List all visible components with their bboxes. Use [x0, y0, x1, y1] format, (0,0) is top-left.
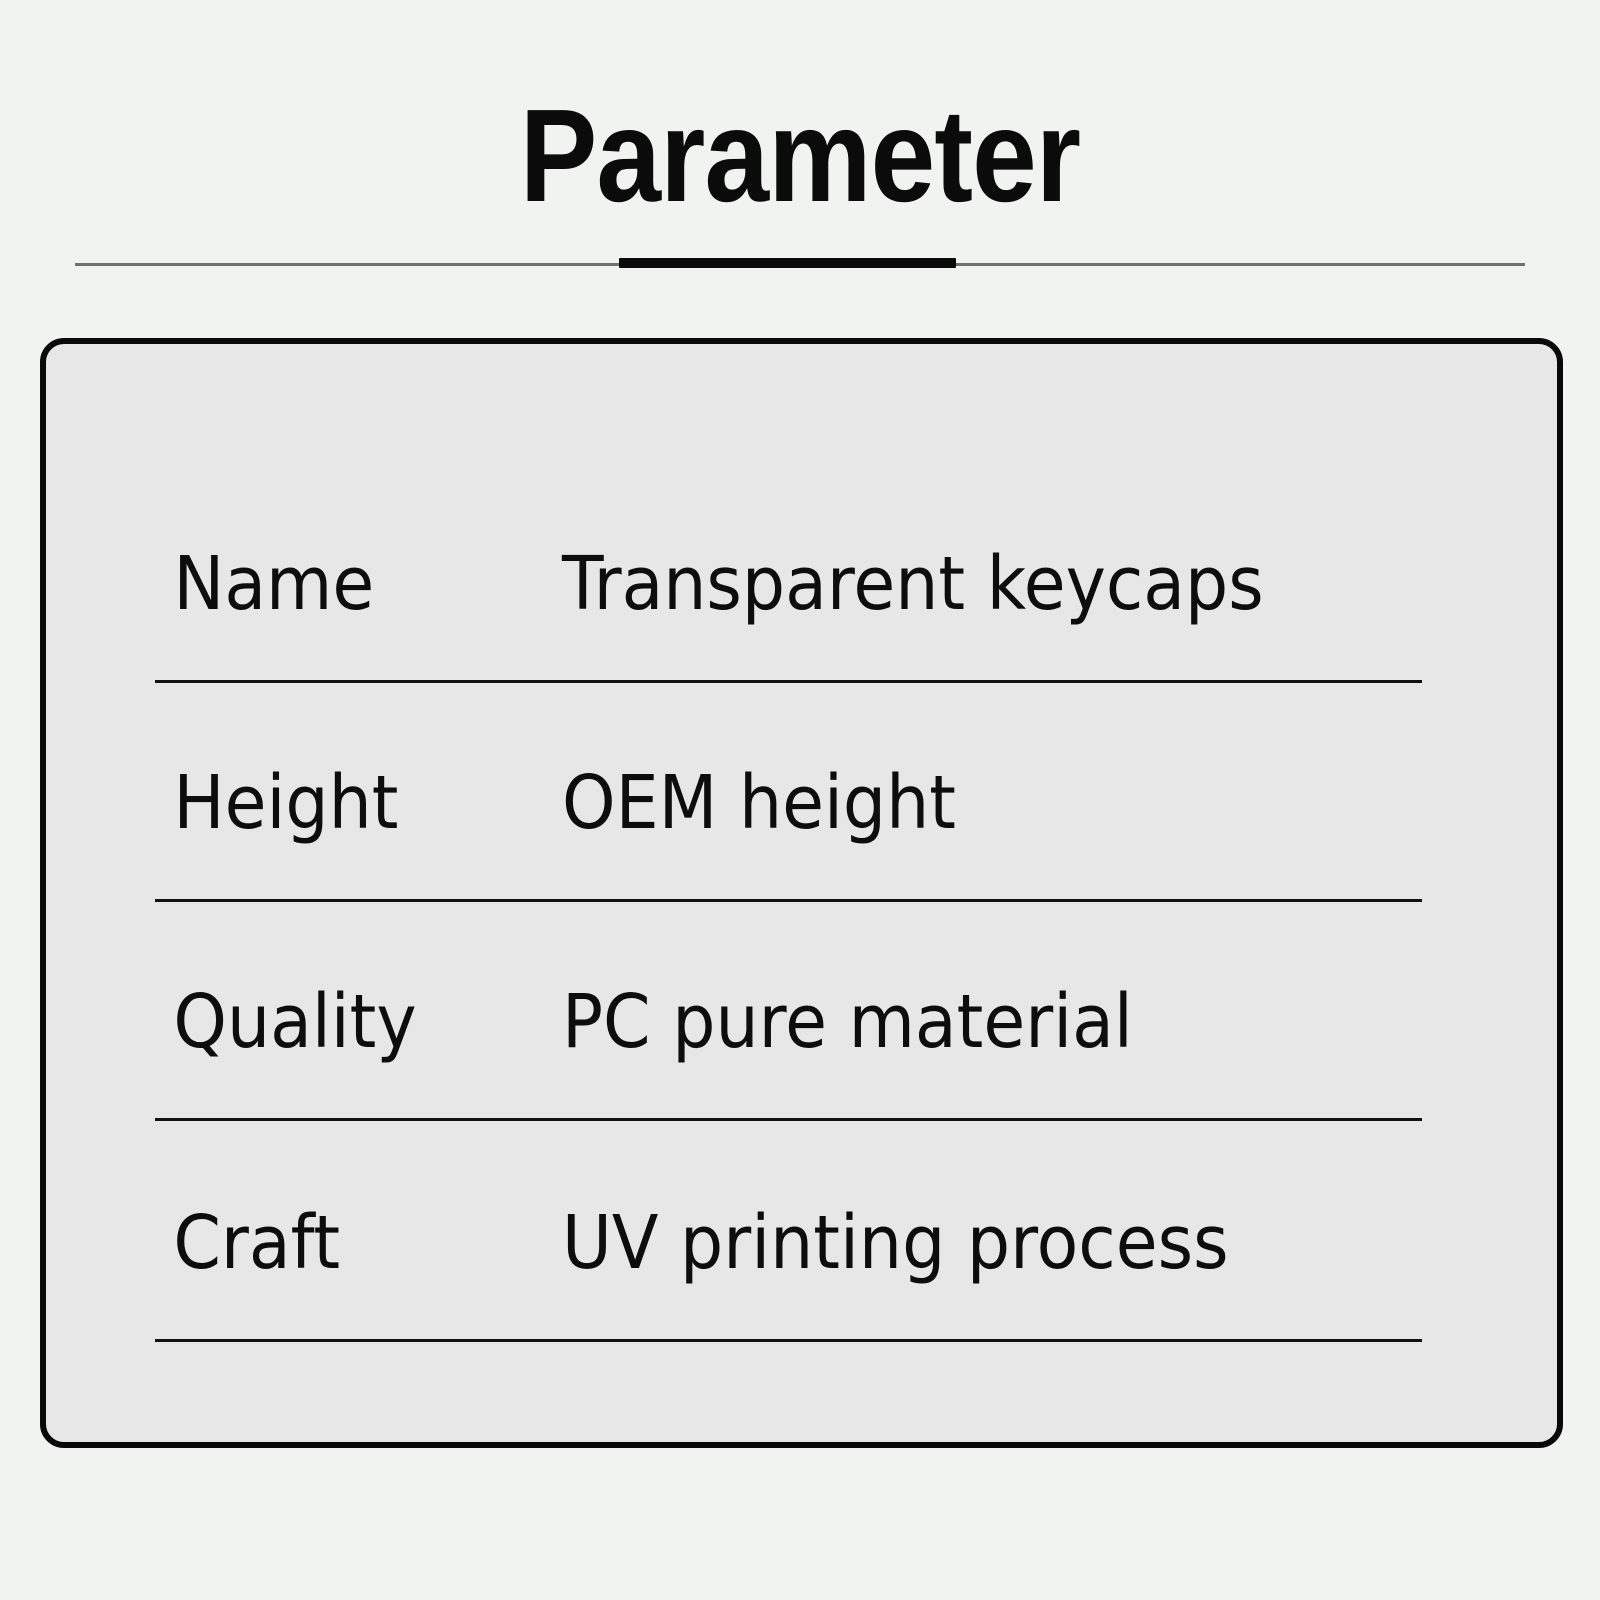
page-header: Parameter	[0, 0, 1600, 300]
row-divider	[155, 1339, 1422, 1342]
parameter-label-name-text: Name	[173, 543, 529, 683]
page-title: Parameter	[96, 86, 1504, 226]
table-row: Name Transparent keycaps	[155, 464, 1422, 683]
parameter-card: Name Transparent keycaps Height OEM heig…	[40, 338, 1563, 1448]
parameter-value-name: Transparent keycaps	[562, 543, 1353, 683]
parameter-label-height: Height	[155, 762, 529, 902]
parameter-label-quality: Quality	[155, 981, 529, 1121]
table-row: Height OEM height	[155, 683, 1422, 902]
table-row: Quality PC pure material	[155, 902, 1422, 1121]
parameter-table: Name Transparent keycaps Height OEM heig…	[155, 464, 1422, 1342]
title-divider-accent	[619, 258, 956, 268]
table-row: Craft UV printing process	[155, 1121, 1422, 1342]
parameter-label-height-text: Height	[173, 762, 529, 902]
parameter-value-quality-text: PC pure material	[562, 981, 1353, 1121]
parameter-value-height: OEM height	[562, 762, 1353, 902]
parameter-label-quality-text: Quality	[173, 981, 529, 1121]
parameter-value-craft: UV printing process	[562, 1202, 1353, 1342]
parameter-label-craft: Craft	[155, 1202, 529, 1342]
parameter-value-craft-text: UV printing process	[562, 1202, 1353, 1342]
parameter-label-name: Name	[155, 543, 529, 683]
parameter-label-craft-text: Craft	[173, 1202, 529, 1342]
parameter-value-height-text: OEM height	[562, 762, 1353, 902]
parameter-value-name-text: Transparent keycaps	[562, 543, 1353, 683]
parameter-value-quality: PC pure material	[562, 981, 1353, 1121]
